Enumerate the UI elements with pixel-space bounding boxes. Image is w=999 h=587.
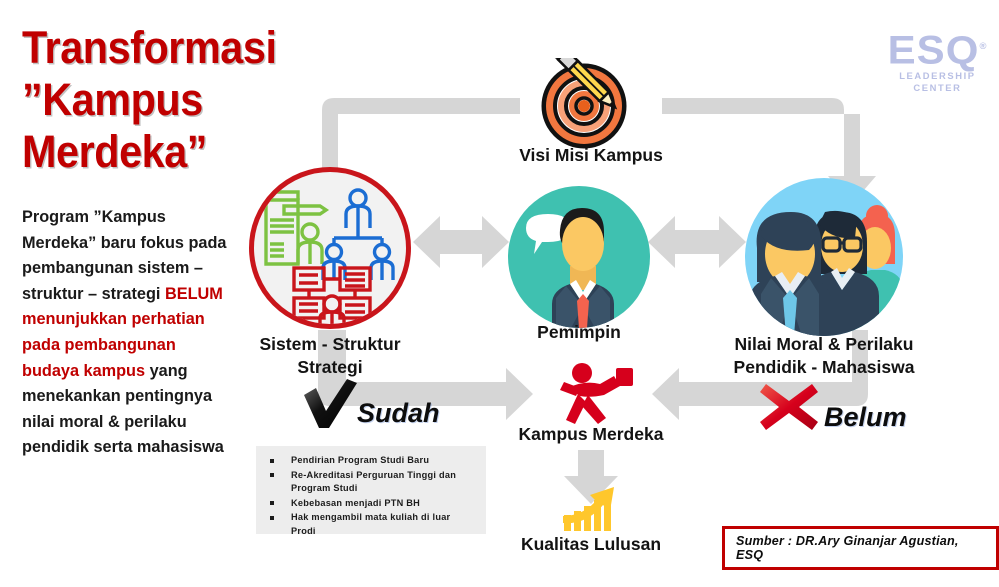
running-person-icon [540, 362, 650, 424]
leader-icon-wrapper [508, 186, 650, 328]
verdict-done-label: Sudah [357, 398, 440, 429]
quality-label: Kualitas Lulusan [491, 533, 691, 556]
system-label: Sistem - Struktur Strategi [230, 333, 430, 379]
arrow-system-leader-bidirectional [413, 216, 509, 268]
campus-label: Kampus Merdeka [491, 423, 691, 446]
list-item: Re-Akreditasi Perguruan Tinggi dan Progr… [266, 469, 476, 496]
leader-label: Pemimpin [479, 321, 679, 344]
vision-label: Visi Misi Kampus [491, 144, 691, 167]
quality-icon-wrapper [560, 483, 628, 531]
achievements-box: Pendirian Program Studi BaruRe-Akreditas… [256, 446, 486, 534]
vision-icon-wrapper [537, 58, 645, 150]
check-mark-icon [302, 378, 360, 430]
cross-mark-icon [758, 382, 820, 432]
growth-chart-icon [560, 483, 628, 531]
leader-person-icon [508, 186, 650, 328]
arrow-leader-values-bidirectional [648, 216, 746, 268]
list-item: Hak mengambil mata kuliah di luar Prodi [266, 511, 476, 538]
cross-mark-icon-wrapper [758, 382, 820, 432]
verdict-not-done-label: Belum [824, 402, 907, 433]
values-icon-wrapper [745, 178, 903, 336]
campus-icon-wrapper [540, 362, 650, 424]
achievements-list: Pendirian Program Studi BaruRe-Akreditas… [266, 454, 476, 539]
values-label: Nilai Moral & Perilaku Pendidik - Mahasi… [709, 333, 939, 379]
target-pencil-icon [537, 58, 645, 150]
system-icon-wrapper [249, 167, 411, 329]
source-citation: Sumber : DR.Ary Ginanjar Agustian, ESQ [722, 526, 999, 570]
people-group-icon [745, 178, 903, 336]
list-item: Kebebasan menjadi PTN BH [266, 497, 476, 511]
list-item: Pendirian Program Studi Baru [266, 454, 476, 468]
system-structure-strategy-icon [254, 172, 406, 324]
infographic-canvas: Transformasi ”Kampus Merdeka” Program ”K… [0, 0, 999, 587]
check-mark-icon-wrapper [302, 378, 360, 430]
